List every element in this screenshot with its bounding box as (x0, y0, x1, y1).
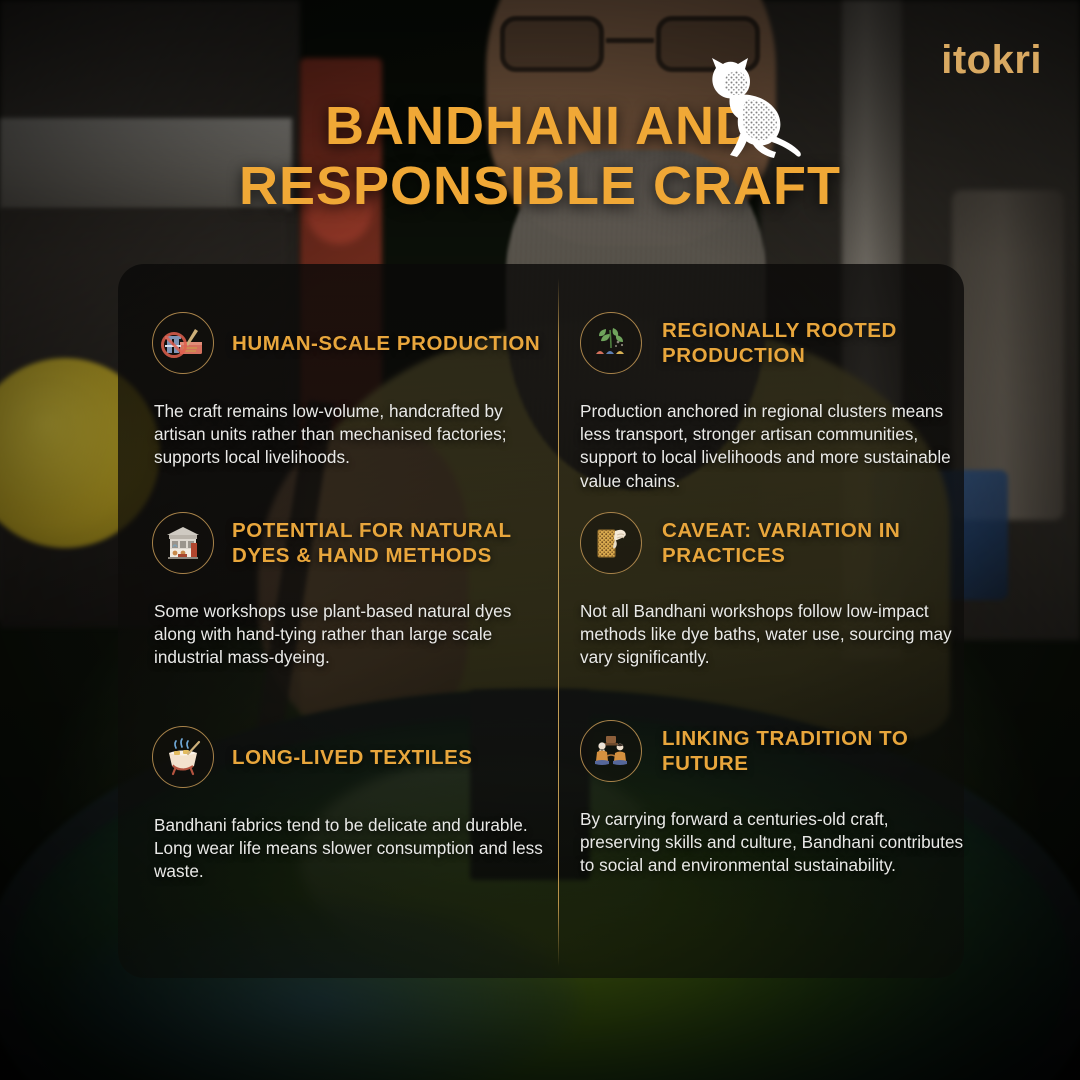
card-body: Some workshops use plant-based natural d… (152, 600, 552, 670)
card-caveat-variation: CAVEAT: VARIATION IN PRACTICES Not all B… (580, 512, 972, 670)
card-title: HUMAN-SCALE PRODUCTION (232, 331, 540, 356)
card-header: HUMAN-SCALE PRODUCTION (152, 312, 552, 374)
card-header: LONG-LIVED TEXTILES (152, 726, 552, 788)
card-title: LONG-LIVED TEXTILES (232, 745, 473, 770)
card-body: Not all Bandhani workshops follow low-im… (580, 600, 972, 670)
no-factory-machine-icon (152, 312, 214, 374)
card-header: LINKING TRADITION TO FUTURE (580, 720, 972, 782)
cat-silhouette-icon (690, 56, 808, 160)
card-title: REGIONALLY ROOTED PRODUCTION (662, 318, 972, 368)
card-body: Bandhani fabrics tend to be delicate and… (152, 814, 552, 884)
page-title: BANDHANI AND RESPONSIBLE CRAFT (0, 96, 1080, 217)
brand-logo-text: itokri (941, 40, 1042, 80)
content-panel: HUMAN-SCALE PRODUCTION The craft remains… (118, 264, 964, 978)
steaming-dye-pot-icon (152, 726, 214, 788)
workshop-building-icon (152, 512, 214, 574)
card-title: CAVEAT: VARIATION IN PRACTICES (662, 518, 972, 568)
brand-logo[interactable]: itokri (941, 40, 1042, 80)
card-title: POTENTIAL FOR NATURAL DYES & HAND METHOD… (232, 518, 552, 568)
card-body: By carrying forward a centuries-old craf… (580, 808, 972, 878)
card-header: REGIONALLY ROOTED PRODUCTION (580, 312, 972, 374)
card-natural-dyes: POTENTIAL FOR NATURAL DYES & HAND METHOD… (152, 512, 552, 670)
column-divider (558, 278, 559, 966)
card-long-lived-textiles: LONG-LIVED TEXTILES Bandhani fabrics ten… (152, 726, 552, 884)
card-header: CAVEAT: VARIATION IN PRACTICES (580, 512, 972, 574)
card-linking-tradition: LINKING TRADITION TO FUTURE By carrying … (580, 720, 972, 878)
card-body: The craft remains low-volume, handcrafte… (152, 400, 552, 470)
card-human-scale-production: HUMAN-SCALE PRODUCTION The craft remains… (152, 312, 552, 470)
two-seated-artisans-icon (580, 720, 642, 782)
page-title-line-2: RESPONSIBLE CRAFT (0, 156, 1080, 216)
card-body: Production anchored in regional clusters… (580, 400, 972, 493)
card-header: POTENTIAL FOR NATURAL DYES & HAND METHOD… (152, 512, 552, 574)
card-title: LINKING TRADITION TO FUTURE (662, 726, 972, 776)
hand-holding-patterned-cloth-icon (580, 512, 642, 574)
plant-sprout-soil-icon (580, 312, 642, 374)
card-regionally-rooted: REGIONALLY ROOTED PRODUCTION Production … (580, 312, 972, 493)
